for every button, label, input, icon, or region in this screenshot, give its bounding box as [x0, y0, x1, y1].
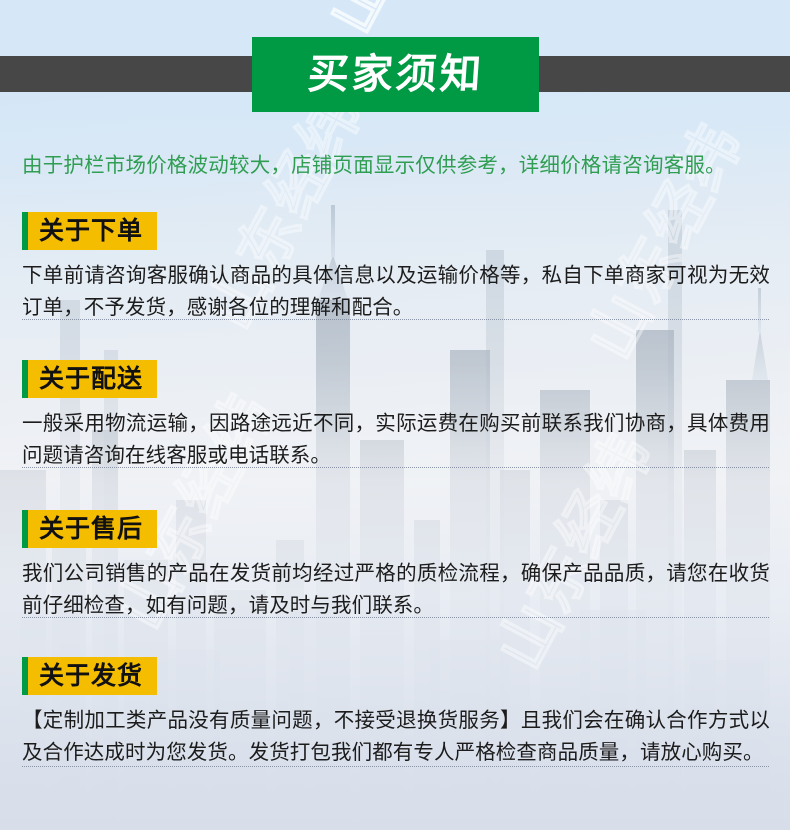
section-tag-label: 关于发货 [39, 664, 143, 689]
section-tag-after-sales: 关于售后 [22, 510, 157, 548]
section-body-ordering: 下单前请咨询客服确认商品的具体信息以及运输价格等，私自下单商家可视为无效订单，不… [22, 260, 770, 324]
notice-content: 由于护栏市场价格波动较大，店铺页面显示仅供参考，详细价格请咨询客服。 关于下单 … [0, 0, 790, 830]
section-separator [22, 319, 769, 320]
section-tag-label: 关于售后 [39, 517, 143, 542]
section-tag-ordering: 关于下单 [22, 212, 157, 250]
section-tag-label: 关于下单 [39, 219, 143, 244]
buyer-notice-page: 山东经纬 山东经纬 山东经纬 山东经纬 山东经纬 山东经纬 买家须知 由于护栏市… [0, 0, 790, 830]
intro-notice: 由于护栏市场价格波动较大，店铺页面显示仅供参考，详细价格请咨询客服。 [22, 151, 772, 181]
section-body-delivery: 一般采用物流运输，因路途远近不同，实际运费在购买前联系我们协商，具体费用问题请咨… [22, 408, 770, 472]
section-separator [22, 467, 769, 468]
section-body-after-sales: 我们公司销售的产品在发货前均经过严格的质检流程，确保产品品质，请您在收货前仔细检… [22, 558, 770, 622]
section-separator [22, 617, 769, 618]
section-tag-shipping: 关于发货 [22, 657, 157, 695]
section-separator [22, 766, 769, 767]
section-body-shipping: 【定制加工类产品没有质量问题，不接受退换货服务】且我们会在确认合作方式以及合作达… [22, 705, 770, 769]
section-tag-delivery: 关于配送 [22, 360, 157, 398]
section-tag-label: 关于配送 [39, 367, 143, 392]
